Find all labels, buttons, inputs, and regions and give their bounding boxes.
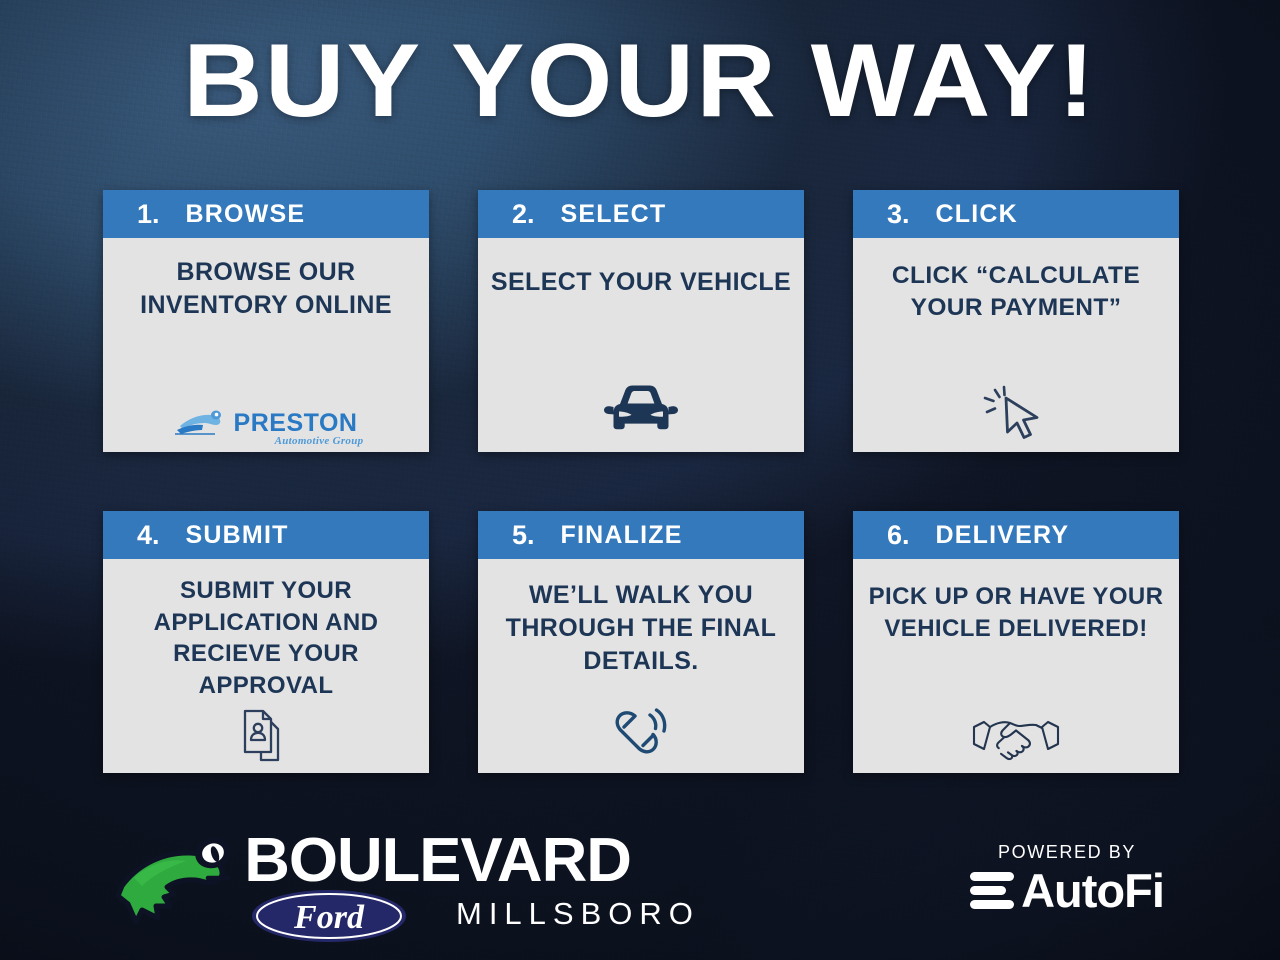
ford-oval-logo: Ford [250, 888, 408, 944]
mouse-cursor-click-icon [979, 384, 1053, 442]
step-title: FINALIZE [561, 521, 683, 550]
step-number: 1. [103, 199, 160, 230]
autofi-row: AutoFi [942, 867, 1192, 914]
handshake-icon [970, 711, 1062, 763]
step-card-body: CLICK “CALCULATE YOUR PAYMENT” [853, 238, 1179, 452]
step-title: BROWSE [186, 200, 306, 229]
step-card-body: BROWSE OUR INVENTORY ONLINE PRESTONAutom… [103, 238, 429, 452]
footer: BOULEVARD Ford MILLSBORO POWERED BY Auto… [0, 812, 1280, 960]
step-card-finalize[interactable]: 5. FINALIZE WE’LL WALK YOU THROUGH THE F… [478, 511, 804, 773]
step-card-header: 3. CLICK [853, 190, 1179, 238]
step-description: WE’LL WALK YOU THROUGH THE FINAL DETAILS… [490, 579, 792, 678]
step-title: SUBMIT [186, 521, 289, 550]
step-card-select[interactable]: 2. SELECT SELECT YOUR VEHICLE [478, 190, 804, 452]
step-card-body: SUBMIT YOUR APPLICATION AND RECIEVE YOUR… [103, 559, 429, 773]
step-number: 3. [853, 199, 910, 230]
preston-wordmark: PRESTONAutomotive Group [234, 411, 358, 436]
step-description: SELECT YOUR VEHICLE [491, 266, 791, 299]
step-number: 4. [103, 520, 160, 551]
svg-text:Ford: Ford [293, 899, 365, 936]
step-description: SUBMIT YOUR APPLICATION AND RECIEVE YOUR… [115, 575, 417, 702]
step-description: CLICK “CALCULATE YOUR PAYMENT” [865, 260, 1167, 325]
preston-tagline: Automotive Group [275, 436, 364, 447]
autofi-bars-icon [970, 872, 1014, 909]
step-card-delivery[interactable]: 6. DELIVERY PICK UP OR HAVE YOUR VEHICLE… [853, 511, 1179, 773]
step-card-body: PICK UP OR HAVE YOUR VEHICLE DELIVERED! [853, 559, 1179, 773]
step-card-header: 4. SUBMIT [103, 511, 429, 559]
step-description: PICK UP OR HAVE YOUR VEHICLE DELIVERED! [865, 581, 1167, 644]
step-card-header: 1. BROWSE [103, 190, 429, 238]
powered-by-label: POWERED BY [942, 842, 1192, 863]
step-title: DELIVERY [936, 521, 1070, 550]
step-title: CLICK [936, 200, 1018, 229]
step-number: 2. [478, 199, 535, 230]
step-card-body: WE’LL WALK YOU THROUGH THE FINAL DETAILS… [478, 559, 804, 773]
poster-stage: BUY YOUR WAY! 1. BROWSE BROWSE OUR INVEN… [0, 0, 1280, 960]
page-title: BUY YOUR WAY! [0, 26, 1280, 136]
step-title: SELECT [561, 200, 667, 229]
preston-automotive-group-logo: PRESTONAutomotive Group [175, 406, 358, 440]
preston-frog-icon [175, 406, 231, 440]
step-card-submit[interactable]: 4. SUBMIT SUBMIT YOUR APPLICATION AND RE… [103, 511, 429, 773]
step-card-header: 2. SELECT [478, 190, 804, 238]
step-card-browse[interactable]: 1. BROWSE BROWSE OUR INVENTORY ONLINE PR… [103, 190, 429, 452]
step-card-header: 5. FINALIZE [478, 511, 804, 559]
millsboro-wordmark: MILLSBORO [456, 898, 700, 929]
autofi-logo[interactable]: POWERED BY AutoFi [942, 842, 1192, 926]
step-description: BROWSE OUR INVENTORY ONLINE [115, 256, 417, 322]
boulevard-wordmark: BOULEVARD [244, 830, 631, 892]
step-number: 6. [853, 520, 910, 551]
ringing-phone-icon [610, 705, 672, 763]
autofi-wordmark: AutoFi [1021, 867, 1164, 914]
step-card-body: SELECT YOUR VEHICLE [478, 238, 804, 452]
step-card-header: 6. DELIVERY [853, 511, 1179, 559]
application-documents-icon [237, 707, 295, 763]
boulevard-ford-millsboro-logo[interactable]: BOULEVARD Ford MILLSBORO [112, 826, 732, 946]
green-frog-icon [112, 834, 238, 942]
car-front-icon [598, 380, 684, 442]
step-card-click[interactable]: 3. CLICK CLICK “CALCULATE YOUR PAYMENT” [853, 190, 1179, 452]
step-number: 5. [478, 520, 535, 551]
